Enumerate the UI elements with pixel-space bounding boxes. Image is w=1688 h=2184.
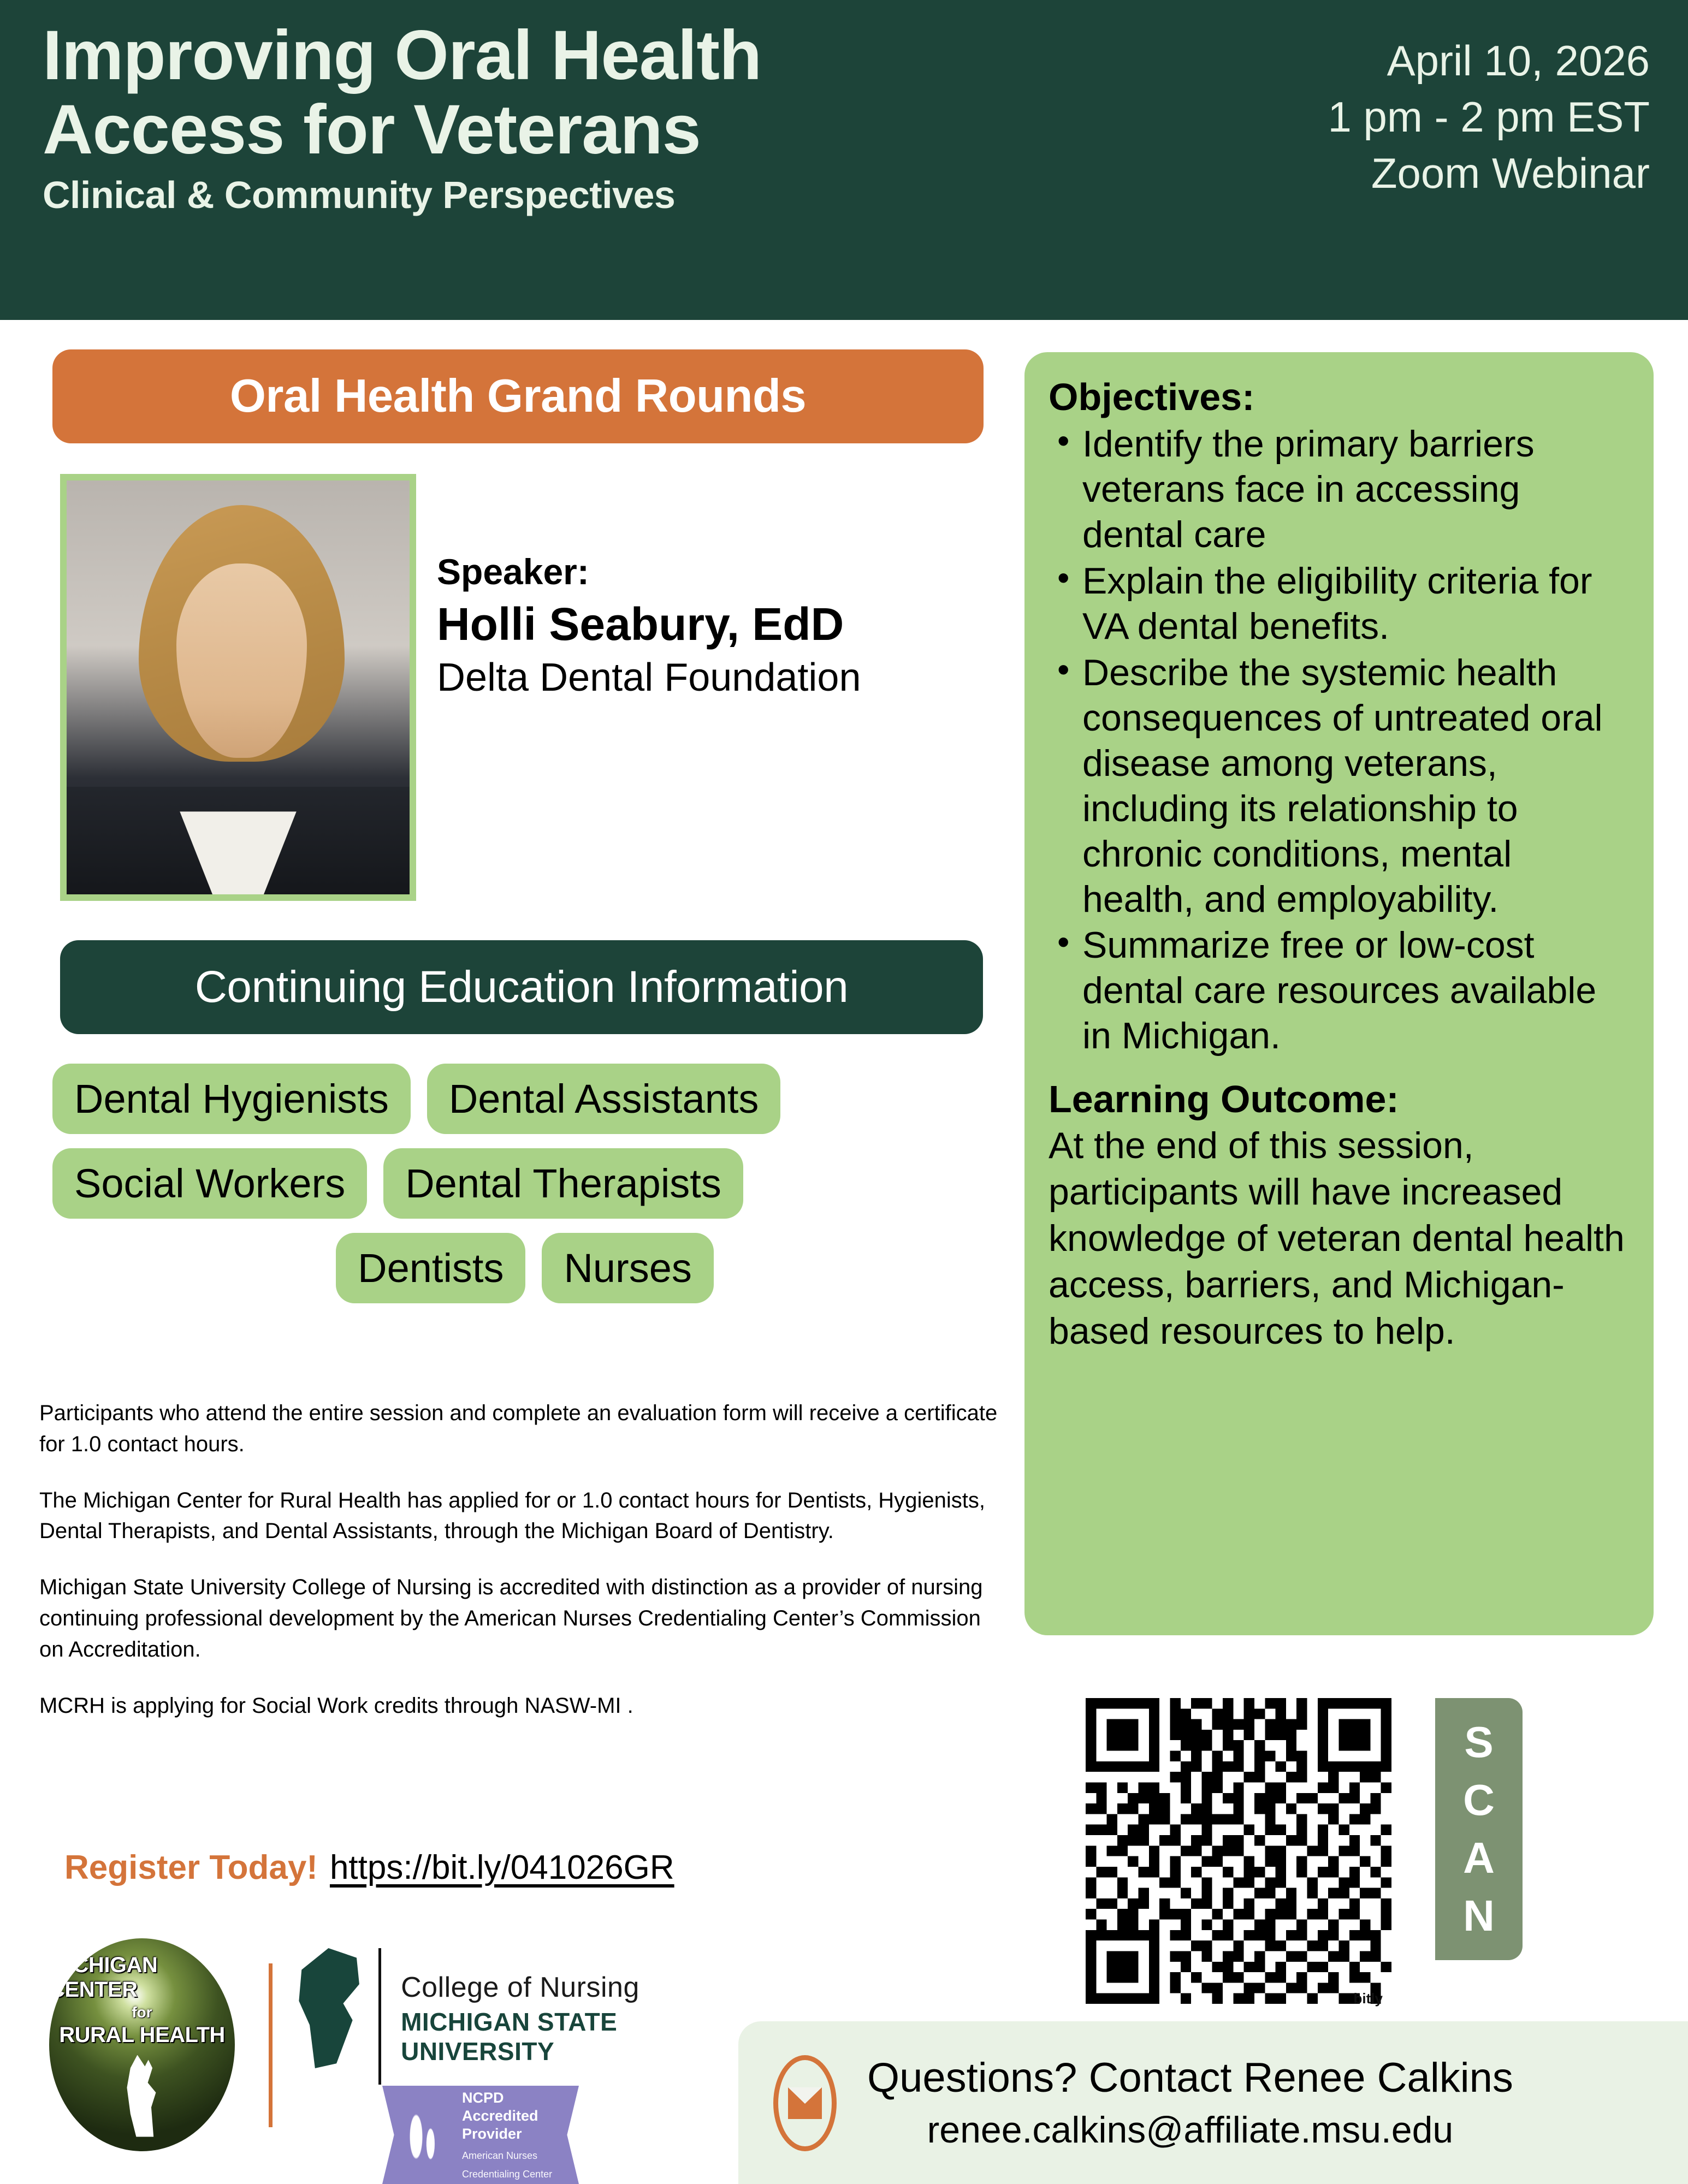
fineprint-paragraph-2: The Michigan Center for Rural Health has… bbox=[39, 1485, 1000, 1547]
mcrh-line3: RURAL HEALTH bbox=[59, 2023, 225, 2048]
spartan-helmet-icon bbox=[295, 1948, 362, 2068]
envelope-glyph bbox=[788, 2087, 822, 2119]
objectives-list: Identify the primary barriers veterans f… bbox=[1049, 422, 1631, 1059]
flyer-page: Improving Oral Health Access for Veteran… bbox=[0, 0, 1688, 2184]
ncpd-line4: American Nurses bbox=[462, 2150, 552, 2162]
objective-item: Identify the primary barriers veterans f… bbox=[1049, 422, 1631, 557]
bitly-caption: bitly bbox=[1354, 1990, 1383, 2007]
audience-tag-dental-hygienists: Dental Hygienists bbox=[52, 1064, 411, 1134]
learning-outcome-heading: Learning Outcome: bbox=[1049, 1077, 1631, 1121]
contact-text: Questions? Contact Renee Calkins renee.c… bbox=[867, 2054, 1513, 2152]
header-left: Improving Oral Health Access for Veteran… bbox=[43, 19, 761, 216]
page-subtitle: Clinical & Community Perspectives bbox=[43, 174, 761, 216]
speaker-photo-frame bbox=[60, 474, 416, 901]
flyer-header: Improving Oral Health Access for Veteran… bbox=[0, 0, 1688, 320]
audience-tag-social-workers: Social Workers bbox=[52, 1148, 367, 1219]
audience-tag-dentists: Dentists bbox=[336, 1233, 525, 1303]
msu-line2: MICHIGAN STATE UNIVERSITY bbox=[401, 2007, 732, 2066]
logo-strip: MICHIGAN CENTER for RURAL HEALTH College… bbox=[44, 1932, 732, 2161]
continuing-education-banner: Continuing Education Information bbox=[60, 940, 983, 1034]
mcrh-line2: for bbox=[132, 2004, 152, 2021]
contact-name-line: Questions? Contact Renee Calkins bbox=[867, 2054, 1513, 2103]
register-row: Register Today! https://bit.ly/041026GR bbox=[64, 1848, 674, 1887]
tag-label: Dental Assistants bbox=[449, 1076, 759, 1122]
ncpd-accredited-provider-logo: NCPD Accredited Provider American Nurses… bbox=[382, 2086, 579, 2184]
header-right: April 10, 2026 1 pm - 2 pm EST Zoom Webi… bbox=[1328, 19, 1650, 201]
event-platform: Zoom Webinar bbox=[1371, 145, 1650, 201]
flame-icon bbox=[390, 2090, 455, 2180]
tag-row: Social Workers Dental Therapists bbox=[52, 1148, 992, 1219]
accreditation-fineprint: Participants who attend the entire sessi… bbox=[39, 1398, 1000, 1721]
fineprint-paragraph-4: MCRH is applying for Social Work credits… bbox=[39, 1690, 1000, 1722]
register-label: Register Today! bbox=[64, 1848, 318, 1887]
fineprint-paragraph-3: Michigan State University College of Nur… bbox=[39, 1572, 1000, 1665]
ncpd-line5: Credentialing Center bbox=[462, 2168, 552, 2181]
tag-label: Dentists bbox=[358, 1245, 504, 1291]
event-date: April 10, 2026 bbox=[1387, 33, 1650, 89]
learning-outcome-body: At the end of this session, participants… bbox=[1049, 1123, 1631, 1355]
continuing-education-label: Continuing Education Information bbox=[195, 962, 849, 1013]
ncpd-line1: NCPD bbox=[462, 2089, 552, 2107]
speaker-name: Holli Seabury, EdD bbox=[437, 597, 983, 651]
michigan-mitten-icon bbox=[113, 2055, 171, 2137]
audience-tag-list: Dental Hygienists Dental Assistants Soci… bbox=[52, 1064, 992, 1317]
tag-label: Social Workers bbox=[74, 1160, 345, 1207]
objective-item: Describe the systemic health consequence… bbox=[1049, 650, 1631, 922]
tag-label: Dental Hygienists bbox=[74, 1076, 389, 1122]
tag-row: Dentists Nurses bbox=[52, 1233, 992, 1303]
scan-letter-s: S bbox=[1464, 1720, 1493, 1764]
tag-row: Dental Hygienists Dental Assistants bbox=[52, 1064, 992, 1134]
ncpd-line3: Provider bbox=[462, 2125, 552, 2143]
audience-tag-dental-therapists: Dental Therapists bbox=[383, 1148, 743, 1219]
objectives-panel: Objectives: Identify the primary barrier… bbox=[1024, 352, 1654, 1635]
mcrh-line1: MICHIGAN CENTER bbox=[49, 1953, 235, 2002]
event-time: 1 pm - 2 pm EST bbox=[1328, 89, 1650, 145]
qr-code-block[interactable]: bitly bbox=[1086, 1698, 1391, 2004]
scan-letter-n: N bbox=[1463, 1894, 1495, 1938]
tag-label: Nurses bbox=[564, 1245, 691, 1291]
msu-line1: College of Nursing bbox=[401, 1971, 732, 2004]
logo-divider bbox=[269, 1963, 273, 2127]
fineprint-paragraph-1: Participants who attend the entire sessi… bbox=[39, 1398, 1000, 1460]
contact-email[interactable]: renee.calkins@affiliate.msu.edu bbox=[867, 2108, 1513, 2153]
series-banner-label: Oral Health Grand Rounds bbox=[230, 370, 806, 423]
ncpd-text: NCPD Accredited Provider American Nurses… bbox=[462, 2089, 552, 2181]
msu-college-of-nursing-logo: College of Nursing MICHIGAN STATE UNIVER… bbox=[295, 1948, 732, 2085]
speaker-organization: Delta Dental Foundation bbox=[437, 655, 983, 701]
scan-label-box: S C A N bbox=[1435, 1698, 1523, 1960]
objective-item: Explain the eligibility criteria for VA … bbox=[1049, 559, 1631, 649]
speaker-photo bbox=[67, 480, 410, 894]
msu-rule bbox=[378, 1948, 381, 2085]
audience-tag-nurses: Nurses bbox=[542, 1233, 713, 1303]
michigan-center-rural-health-logo: MICHIGAN CENTER for RURAL HEALTH bbox=[49, 1938, 235, 2151]
speaker-info: Speaker: Holli Seabury, EdD Delta Dental… bbox=[437, 551, 983, 701]
speaker-label: Speaker: bbox=[437, 551, 983, 593]
contact-footer: Questions? Contact Renee Calkins renee.c… bbox=[738, 2021, 1688, 2184]
register-link[interactable]: https://bit.ly/041026GR bbox=[330, 1848, 674, 1887]
scan-letter-a: A bbox=[1463, 1836, 1495, 1880]
audience-tag-dental-assistants: Dental Assistants bbox=[427, 1064, 781, 1134]
series-banner: Oral Health Grand Rounds bbox=[52, 349, 984, 443]
objectives-heading: Objectives: bbox=[1049, 376, 1631, 418]
objective-item: Summarize free or low-cost dental care r… bbox=[1049, 923, 1631, 1059]
scan-letter-c: C bbox=[1463, 1778, 1495, 1822]
ncpd-line2: Accredited bbox=[462, 2107, 552, 2125]
page-title: Improving Oral Health Access for Veteran… bbox=[43, 19, 761, 167]
tag-label: Dental Therapists bbox=[405, 1160, 721, 1207]
qr-code-icon[interactable] bbox=[1086, 1698, 1391, 2004]
email-icon bbox=[773, 2055, 837, 2151]
msu-wordmark: College of Nursing MICHIGAN STATE UNIVER… bbox=[401, 1948, 732, 2066]
